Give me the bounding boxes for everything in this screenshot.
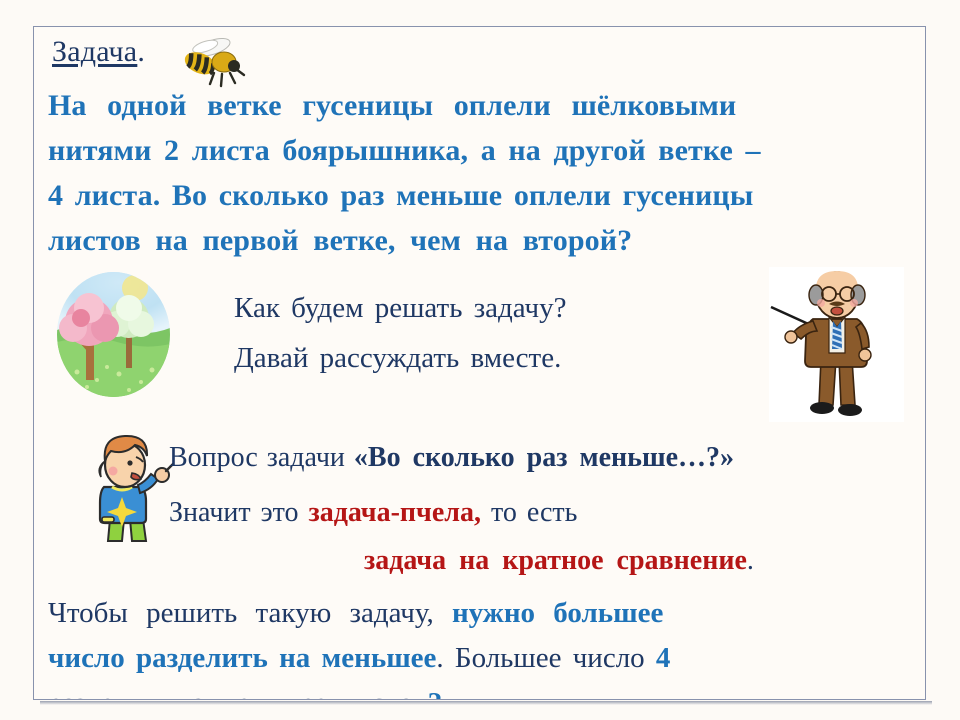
concept-period: . [747,545,754,576]
statement-line-2: нитями 2 листа боярышника, а на другой в… [48,134,761,168]
statement-line-3: 4 листа. Во сколько раз меньше оплели гу… [48,179,753,213]
concept-line: задача на кратное сравнение. [364,545,754,577]
blossoming-trees-image [57,272,170,397]
conclusion-period: . [442,687,449,700]
conclusion-plain-2: . Большее число [436,642,656,674]
conclusion-line-2: число разделить на меньшее. Большее числ… [48,642,670,675]
conclusion-bold-2: число разделить на меньшее [48,642,436,674]
page-title-period: . [137,35,145,68]
page-title-word: Задача [52,35,137,68]
conclusion-bold-1: нужно большее [452,597,663,629]
pointing-boy-image [82,431,178,543]
question-line: Вопрос задачи «Во сколько раз меньше…?» [169,442,734,474]
conclusion-plain-3: разделим на меньшее число [48,687,428,700]
question-prefix: Вопрос задачи [169,442,354,473]
dialogue-line-2: Давай рассуждать вместе. [234,342,561,375]
means-prefix: Значит это [169,497,309,528]
means-line: Значит это задача-пчела, то есть [169,497,577,529]
bee-icon [174,35,252,89]
slide-canvas: Задача. [33,26,926,700]
conclusion-line-3: разделим на меньшее число 2. [48,687,449,700]
means-suffix: то есть [481,497,577,528]
smaller-number: 2 [428,687,443,700]
page-title: Задача. [52,35,145,69]
statement-line-4: листов на первой ветке, чем на второй? [48,224,632,258]
means-highlight: задача-пчела, [309,497,481,528]
statement-line-1: На одной ветке гусеницы оплели шёлковыми [48,89,736,123]
concept-text: задача на кратное сравнение [364,545,747,576]
conclusion-line-1: Чтобы решить такую задачу, нужно большее [48,597,663,630]
teacher-pointer-image [769,267,904,422]
slide-shadow [40,701,932,705]
question-quoted: «Во сколько раз меньше…?» [354,442,734,473]
dialogue-line-1: Как будем решать задачу? [234,292,566,325]
conclusion-plain-1: Чтобы решить такую задачу, [48,597,452,629]
larger-number: 4 [656,642,671,674]
